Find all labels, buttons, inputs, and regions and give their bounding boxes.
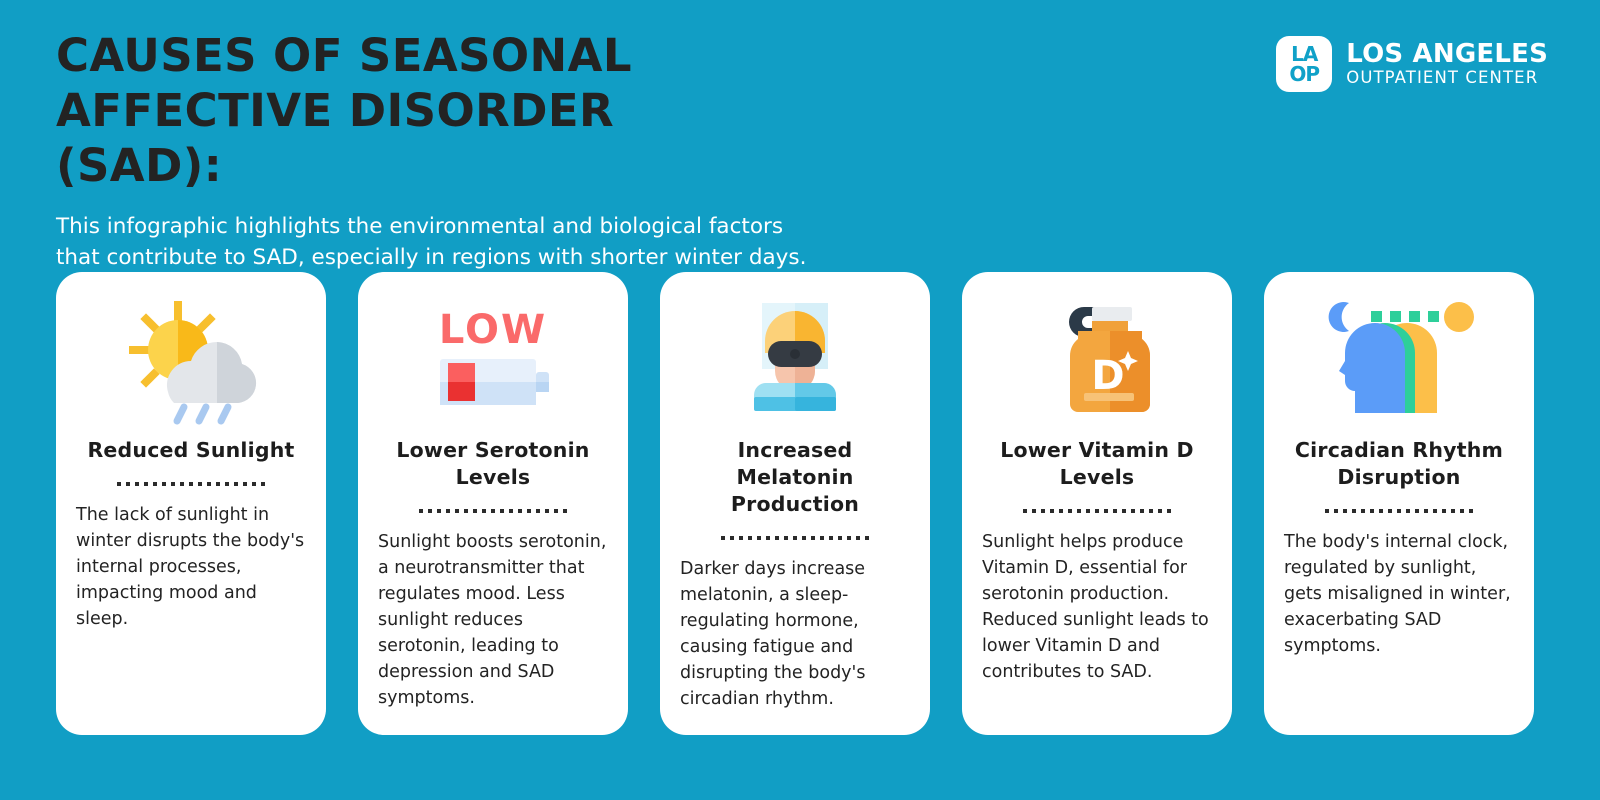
- card-title: Circadian Rhythm Disruption: [1284, 437, 1514, 491]
- card-title: Reduced Sunlight: [87, 437, 294, 464]
- dotted-divider: [721, 536, 869, 542]
- cards-row: Reduced Sunlight The lack of sunlight in…: [56, 272, 1534, 735]
- sun-behind-rain-cloud-icon: [76, 294, 306, 429]
- sleeping-person-icon: [680, 294, 910, 429]
- card-body: Sunlight boosts serotonin, a neurotransm…: [378, 529, 608, 711]
- cause-card-lower-serotonin[interactable]: LOW Lower Serotonin Levels Sunlight boos…: [358, 272, 628, 735]
- card-body: The body's internal clock, regulated by …: [1284, 529, 1514, 659]
- card-body: Darker days increase melatonin, a sleep-…: [680, 556, 910, 712]
- svg-text:LOW: LOW: [439, 307, 547, 353]
- infographic-page: CAUSES OF SEASONAL AFFECTIVE DISORDER (S…: [0, 0, 1600, 800]
- dotted-divider: [1023, 509, 1171, 515]
- card-body: The lack of sunlight in winter disrupts …: [76, 502, 306, 632]
- page-subtitle: This infographic highlights the environm…: [56, 211, 936, 273]
- logo-name-line2: OUTPATIENT CENTER: [1346, 68, 1548, 88]
- cause-card-increased-melatonin[interactable]: Increased Melatonin Production Darker da…: [660, 272, 930, 735]
- cause-card-lower-vitamin-d[interactable]: D Lower Vitamin D Levels Sunlight helps …: [962, 272, 1232, 735]
- cause-card-circadian-rhythm[interactable]: Circadian Rhythm Disruption The body's i…: [1264, 272, 1534, 735]
- low-battery-icon: LOW: [378, 294, 608, 429]
- dotted-divider: [419, 509, 567, 515]
- logo-name-line1: LOS ANGELES: [1346, 41, 1548, 68]
- page-title-line1: CAUSES OF SEASONAL: [56, 29, 632, 82]
- logo-wordmark: LOS ANGELES OUTPATIENT CENTER: [1346, 41, 1548, 88]
- card-body: Sunlight helps produce Vitamin D, essent…: [982, 529, 1212, 685]
- brand-logo[interactable]: LA OP LOS ANGELES OUTPATIENT CENTER: [1276, 36, 1548, 92]
- card-title: Lower Vitamin D Levels: [982, 437, 1212, 491]
- day-night-heads-icon: [1284, 294, 1514, 429]
- dotted-divider: [117, 482, 265, 488]
- svg-text:D: D: [1091, 353, 1124, 399]
- logo-mark-line2: OP: [1289, 64, 1319, 84]
- page-title-line2: AFFECTIVE DISORDER (SAD):: [56, 84, 614, 192]
- vitamin-d-bottle-icon: D: [982, 294, 1212, 429]
- page-title: CAUSES OF SEASONAL AFFECTIVE DISORDER (S…: [56, 28, 756, 193]
- page-subtitle-line1: This infographic highlights the environm…: [56, 214, 783, 239]
- dotted-divider: [1325, 509, 1473, 515]
- card-title: Lower Serotonin Levels: [378, 437, 608, 491]
- card-title: Increased Melatonin Production: [680, 437, 910, 518]
- logo-mark-line1: LA: [1291, 44, 1317, 64]
- logo-mark: LA OP: [1276, 36, 1332, 92]
- cause-card-reduced-sunlight[interactable]: Reduced Sunlight The lack of sunlight in…: [56, 272, 326, 735]
- page-subtitle-line2: that contribute to SAD, especially in re…: [56, 245, 806, 270]
